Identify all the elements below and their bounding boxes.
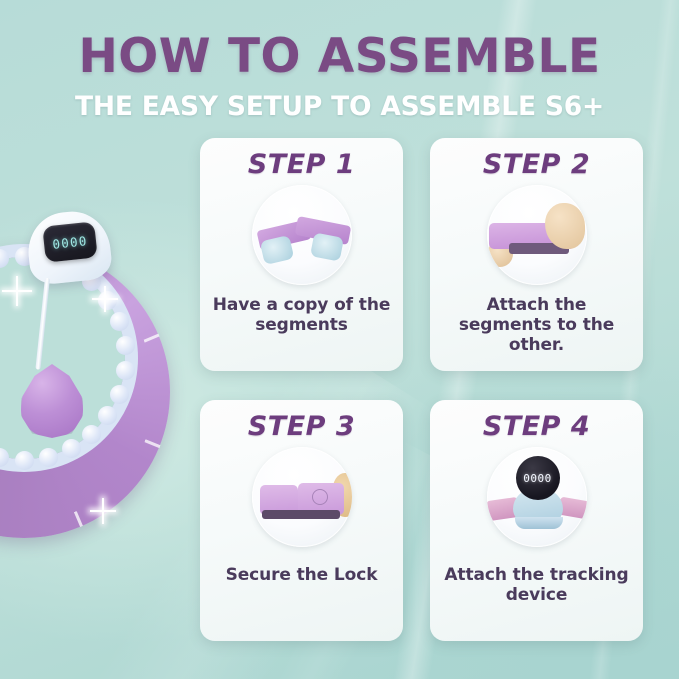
smart-hula-hoop-product-image: 0000 bbox=[0, 212, 208, 542]
step-4-title: STEP 4 bbox=[483, 413, 590, 440]
step-card-4: STEP 4 0000 Attach the tracking device bbox=[430, 400, 643, 641]
step-card-2: STEP 2 Attach the segments to the other. bbox=[430, 138, 643, 371]
segment-right-connector bbox=[309, 232, 343, 261]
step-1-title: STEP 1 bbox=[248, 151, 355, 178]
tracking-device-photo: 0000 bbox=[487, 447, 587, 547]
header: HOW TO ASSEMBLE THE EASY SETUP TO ASSEMB… bbox=[0, 0, 679, 121]
hand-attaching-segments-photo bbox=[487, 185, 587, 285]
tracker-digits: 0000 bbox=[523, 472, 552, 485]
step-card-1: STEP 1 Have a copy of the segments bbox=[200, 138, 403, 371]
step-1-caption: Have a copy of the segments bbox=[200, 295, 403, 335]
lock-ring-icon bbox=[312, 489, 328, 505]
step-card-3: STEP 3 Secure the Lock bbox=[200, 400, 403, 641]
tracker-display: 0000 bbox=[516, 456, 560, 500]
segment-underside bbox=[262, 510, 340, 519]
step-3-title: STEP 3 bbox=[248, 413, 355, 440]
page-title: HOW TO ASSEMBLE bbox=[0, 33, 679, 80]
counter-digits: 0000 bbox=[52, 233, 89, 252]
two-hoop-segments-photo bbox=[252, 185, 352, 285]
step-2-caption: Attach the segments to the other. bbox=[430, 295, 643, 355]
step-2-title: STEP 2 bbox=[483, 151, 590, 178]
step-4-caption: Attach the tracking device bbox=[430, 565, 643, 605]
segment-left-connector bbox=[259, 235, 294, 265]
step-3-caption: Secure the Lock bbox=[216, 565, 388, 585]
securing-lock-photo bbox=[252, 447, 352, 547]
page-subtitle: THE EASY SETUP TO ASSEMBLE S6+ bbox=[0, 94, 679, 121]
hoop-counter-display: 0000 bbox=[42, 221, 97, 262]
tracker-clips bbox=[515, 517, 563, 529]
